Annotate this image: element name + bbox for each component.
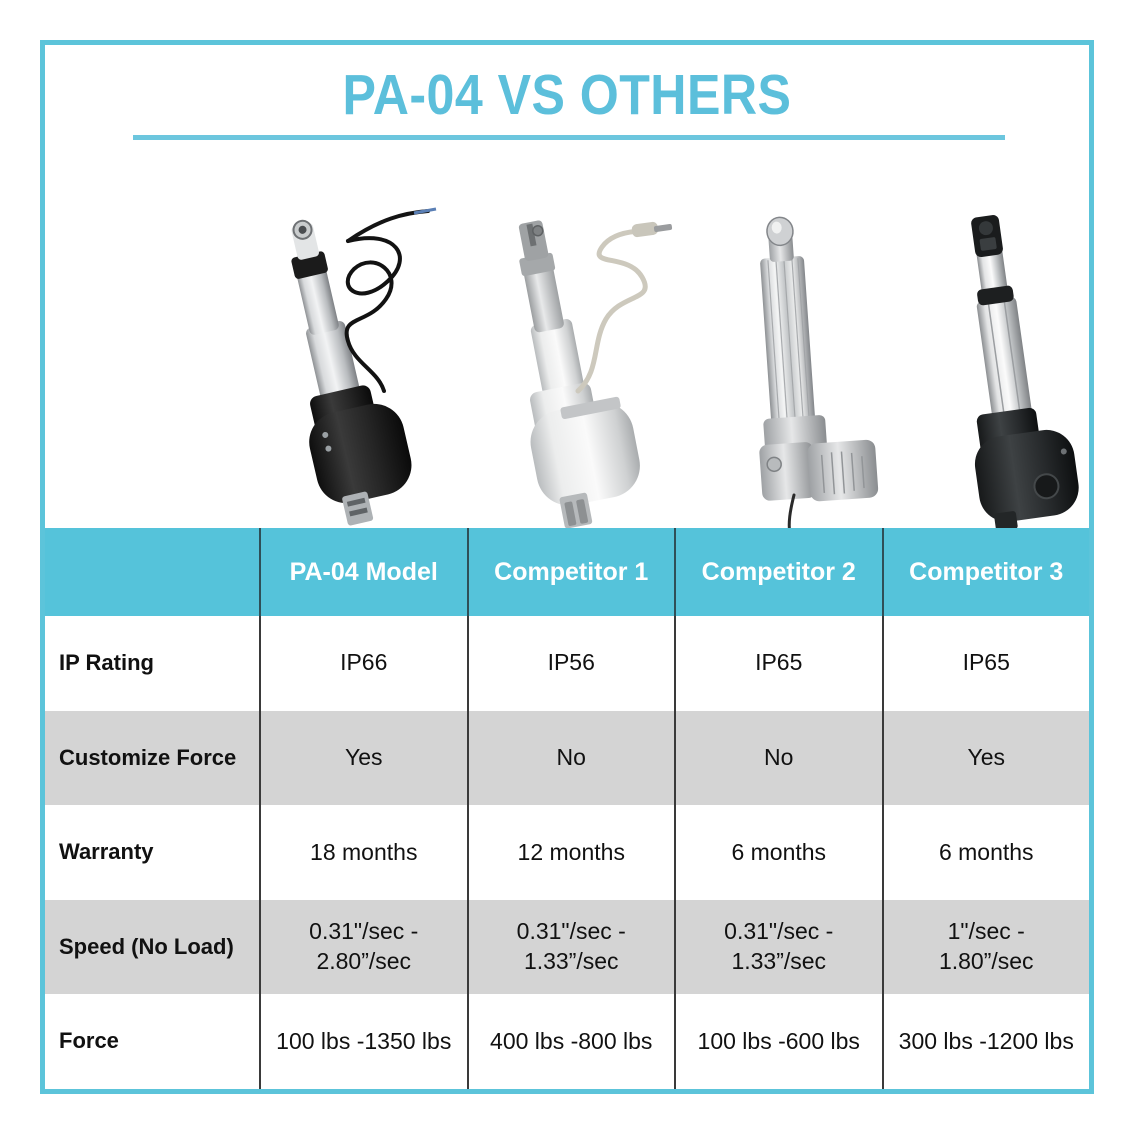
table-row: Customize Force Yes No No Yes bbox=[45, 711, 1089, 806]
title-block: PA-04 VS OTHERS bbox=[45, 45, 1089, 197]
cell-line-2: 1.80”/sec bbox=[939, 948, 1034, 974]
row-label-warranty: Warranty bbox=[45, 805, 259, 900]
row-label-ip-rating: IP Rating bbox=[45, 616, 259, 711]
product-image-competitor-2 bbox=[690, 195, 905, 537]
comparison-table: PA-04 Model Competitor 1 Competitor 2 Co… bbox=[45, 528, 1089, 1089]
table-header-row: PA-04 Model Competitor 1 Competitor 2 Co… bbox=[45, 528, 1089, 616]
cell-force-competitor-3: 300 lbs -1200 lbs bbox=[882, 994, 1090, 1089]
cell-ip-rating-competitor-1: IP56 bbox=[467, 616, 675, 711]
cell-customize-force-pa-04: Yes bbox=[259, 711, 467, 806]
cell-force-competitor-2: 100 lbs -600 lbs bbox=[674, 994, 882, 1089]
header-cell-competitor-3: Competitor 3 bbox=[882, 528, 1090, 616]
cell-line-1: 0.31"/sec - bbox=[724, 918, 833, 944]
product-image-competitor-1 bbox=[460, 195, 675, 537]
cell-speed-competitor-3: 1"/sec - 1.80”/sec bbox=[882, 900, 1090, 995]
cell-warranty-pa-04: 18 months bbox=[259, 805, 467, 900]
cell-line-1: 0.31"/sec - bbox=[309, 918, 418, 944]
cell-ip-rating-competitor-2: IP65 bbox=[674, 616, 882, 711]
table-row: Force 100 lbs -1350 lbs 400 lbs -800 lbs… bbox=[45, 994, 1089, 1089]
cell-force-pa-04: 100 lbs -1350 lbs bbox=[259, 994, 467, 1089]
header-cell-blank bbox=[45, 528, 259, 616]
cyan-border-frame: PA-04 VS OTHERS bbox=[40, 40, 1094, 1094]
page-title: PA-04 VS OTHERS bbox=[108, 67, 1027, 124]
table-row: Speed (No Load) 0.31"/sec - 2.80”/sec 0.… bbox=[45, 900, 1089, 995]
cell-line-1: 1"/sec - bbox=[948, 918, 1025, 944]
header-cell-pa-04: PA-04 Model bbox=[259, 528, 467, 616]
cell-line-2: 1.33”/sec bbox=[731, 948, 826, 974]
cell-line-1: 0.31"/sec - bbox=[517, 918, 626, 944]
cell-ip-rating-pa-04: IP66 bbox=[259, 616, 467, 711]
cell-warranty-competitor-1: 12 months bbox=[467, 805, 675, 900]
cell-customize-force-competitor-2: No bbox=[674, 711, 882, 806]
product-image-strip bbox=[45, 195, 1089, 537]
comparison-infographic: PA-04 VS OTHERS bbox=[0, 0, 1134, 1134]
cell-line-2: 1.33”/sec bbox=[524, 948, 619, 974]
cell-warranty-competitor-2: 6 months bbox=[674, 805, 882, 900]
cell-speed-competitor-2: 0.31"/sec - 1.33”/sec bbox=[674, 900, 882, 995]
title-underline-rule bbox=[133, 135, 1005, 140]
cell-customize-force-competitor-3: Yes bbox=[882, 711, 1090, 806]
cell-customize-force-competitor-1: No bbox=[467, 711, 675, 806]
header-cell-competitor-1: Competitor 1 bbox=[467, 528, 675, 616]
product-image-competitor-3 bbox=[900, 195, 1115, 537]
row-label-customize-force: Customize Force bbox=[45, 711, 259, 806]
cell-warranty-competitor-3: 6 months bbox=[882, 805, 1090, 900]
header-cell-competitor-2: Competitor 2 bbox=[674, 528, 882, 616]
row-label-speed-no-load: Speed (No Load) bbox=[45, 900, 259, 995]
cell-speed-pa-04: 0.31"/sec - 2.80”/sec bbox=[259, 900, 467, 995]
table-row: Warranty 18 months 12 months 6 months 6 … bbox=[45, 805, 1089, 900]
row-label-force: Force bbox=[45, 994, 259, 1089]
cell-ip-rating-competitor-3: IP65 bbox=[882, 616, 1090, 711]
cell-line-2: 2.80”/sec bbox=[316, 948, 411, 974]
cell-speed-competitor-1: 0.31"/sec - 1.33”/sec bbox=[467, 900, 675, 995]
cell-force-competitor-1: 400 lbs -800 lbs bbox=[467, 994, 675, 1089]
table-row: IP Rating IP66 IP56 IP65 IP65 bbox=[45, 616, 1089, 711]
product-image-pa-04 bbox=[228, 195, 443, 537]
